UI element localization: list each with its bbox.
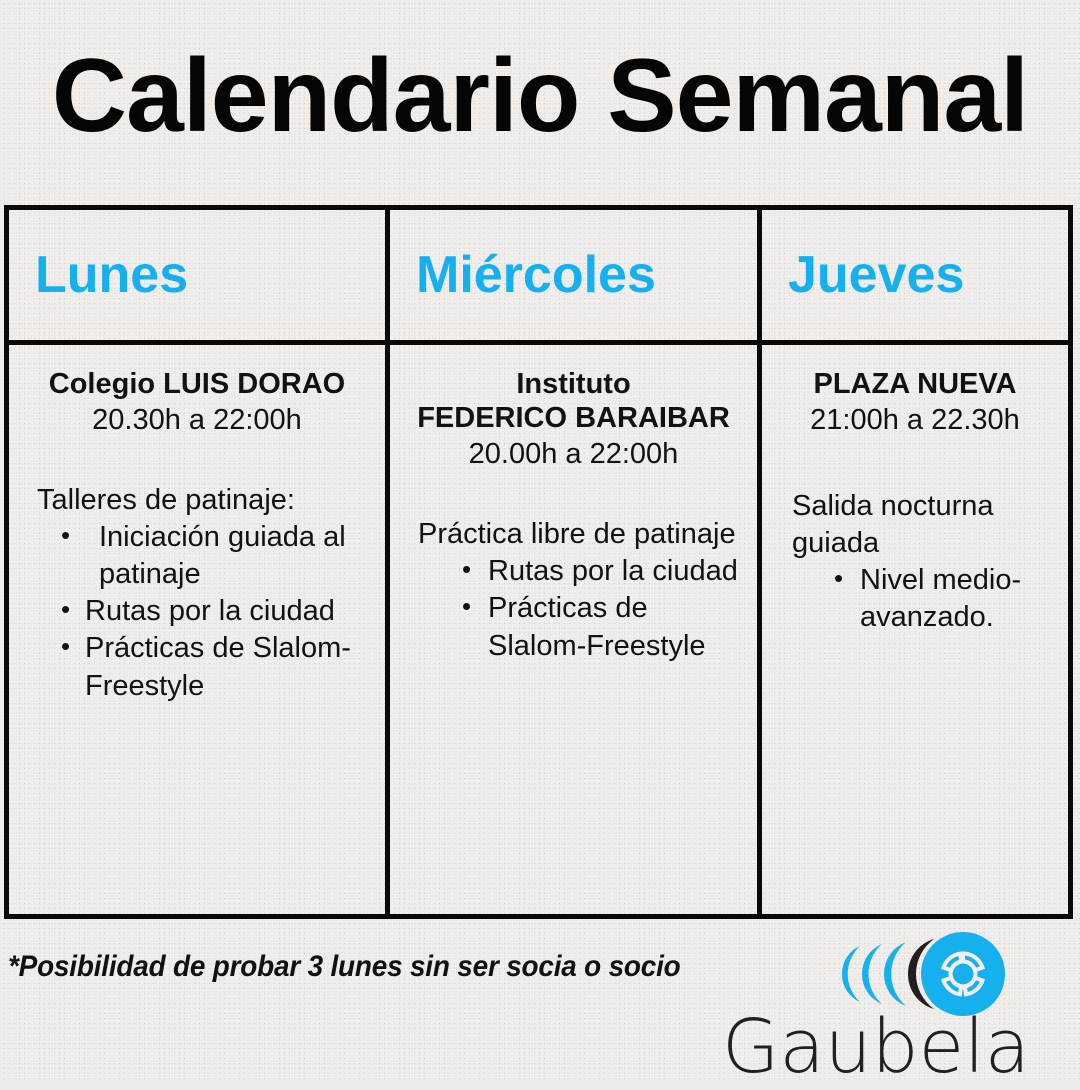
list-item: Prácticas de Slalom-Freestyle (462, 590, 743, 664)
activity-intro: Talleres de patinaje: (37, 482, 371, 519)
activity-list: Rutas por la ciudad Prácticas de Slalom-… (404, 553, 743, 664)
venue-name-line1: Instituto (404, 367, 743, 401)
list-item: Rutas por la ciudad (462, 553, 743, 590)
activity-intro: Práctica libre de patinaje (418, 516, 743, 553)
brand-wordmark: Gaubela (680, 1010, 1072, 1084)
schedule-cell-miercoles: Instituto FEDERICO BARAIBAR 20.00h a 22:… (385, 345, 762, 914)
venue-name: PLAZA NUEVA (776, 367, 1054, 401)
session-time: 21:00h a 22.30h (776, 403, 1054, 438)
list-item: Prácticas de Slalom-Freestyle (59, 630, 371, 704)
day-label: Jueves (788, 249, 964, 301)
schedule-cell-lunes: Colegio LUIS DORAO 20.30h a 22:00h Talle… (9, 345, 385, 914)
activity-list: Nivel medio-avanzado. (776, 562, 1054, 636)
schedule-cell-jueves: PLAZA NUEVA 21:00h a 22.30h Salida noctu… (762, 345, 1068, 914)
day-header-miercoles: Miércoles (385, 210, 762, 340)
schedule-header-row: Lunes Miércoles Jueves (9, 210, 1068, 345)
day-header-lunes: Lunes (9, 210, 385, 340)
list-item: Nivel medio-avanzado. (834, 562, 1054, 636)
activity-intro: Salida nocturna guiada (792, 488, 1054, 562)
footnote-text: *Posibilidad de probar 3 lunes sin ser s… (8, 950, 681, 984)
page-title: Calendario Semanal (0, 44, 1080, 148)
venue-name-line2: FEDERICO BARAIBAR (404, 401, 743, 435)
session-time: 20.30h a 22:00h (23, 403, 371, 438)
activity-list: Iniciación guiada al patinaje Rutas por … (23, 519, 371, 705)
venue-name: Colegio LUIS DORAO (23, 367, 371, 401)
weekly-schedule-table: Lunes Miércoles Jueves Colegio LUIS DORA… (4, 205, 1073, 919)
poster-canvas: Calendario Semanal Lunes Miércoles Jueve… (0, 0, 1080, 1080)
session-time: 20.00h a 22:00h (404, 437, 743, 472)
schedule-body-row: Colegio LUIS DORAO 20.30h a 22:00h Talle… (9, 345, 1068, 914)
day-label: Miércoles (416, 249, 656, 301)
brand-logo: Gaubela (800, 928, 1072, 1080)
day-label: Lunes (35, 249, 188, 301)
list-item: Iniciación guiada al patinaje (59, 519, 371, 593)
day-header-jueves: Jueves (762, 210, 1068, 340)
list-item: Rutas por la ciudad (59, 593, 371, 630)
